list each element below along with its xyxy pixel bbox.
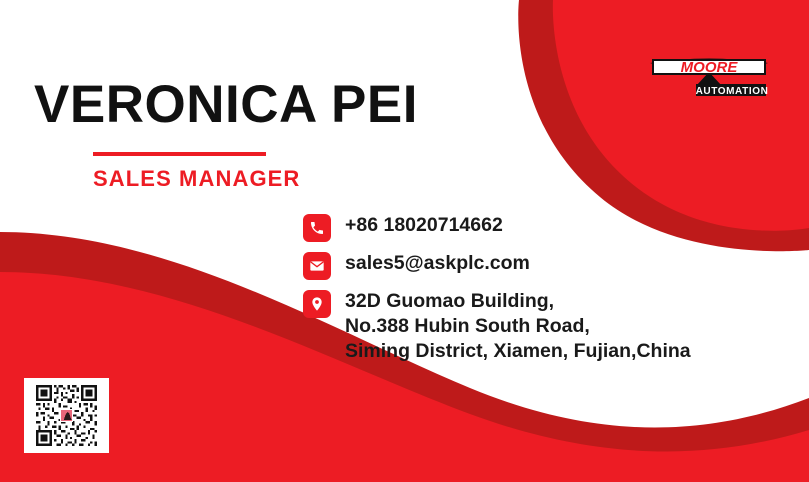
identity-block: VERONICA PEI SALES MANAGER [34,78,494,192]
contact-row-address[interactable]: 32D Guomao Building, No.388 Hubin South … [303,289,783,364]
contact-row-phone[interactable]: +86 18020714662 [303,213,783,242]
company-logo: MOORE AUTOMATION [648,50,770,100]
logo-wordmark: MOORE [681,59,739,76]
job-title: SALES MANAGER [93,166,494,192]
logo-tagline: AUTOMATION [696,86,769,97]
address-value: 32D Guomao Building, No.388 Hubin South … [345,289,691,364]
logo-accent-bar [670,84,698,96]
envelope-icon [303,252,331,280]
email-value: sales5@askplc.com [345,251,530,276]
contact-row-email[interactable]: sales5@askplc.com [303,251,783,280]
location-pin-icon [303,290,331,318]
phone-value: +86 18020714662 [345,213,503,238]
title-divider-rule [93,152,266,156]
qr-code[interactable] [24,378,109,453]
phone-icon [303,214,331,242]
person-name: VERONICA PEI [34,78,494,131]
address-line-3: Siming District, Xiamen, Fujian,China [345,339,691,364]
address-line-2: No.388 Hubin South Road, [345,314,691,339]
business-card: VERONICA PEI SALES MANAGER +86 180207146… [0,0,809,482]
contact-block: +86 18020714662 sales5@askplc.com 32D Gu… [303,213,783,364]
qr-code-graphic [29,383,104,448]
address-line-1: 32D Guomao Building, [345,289,691,314]
